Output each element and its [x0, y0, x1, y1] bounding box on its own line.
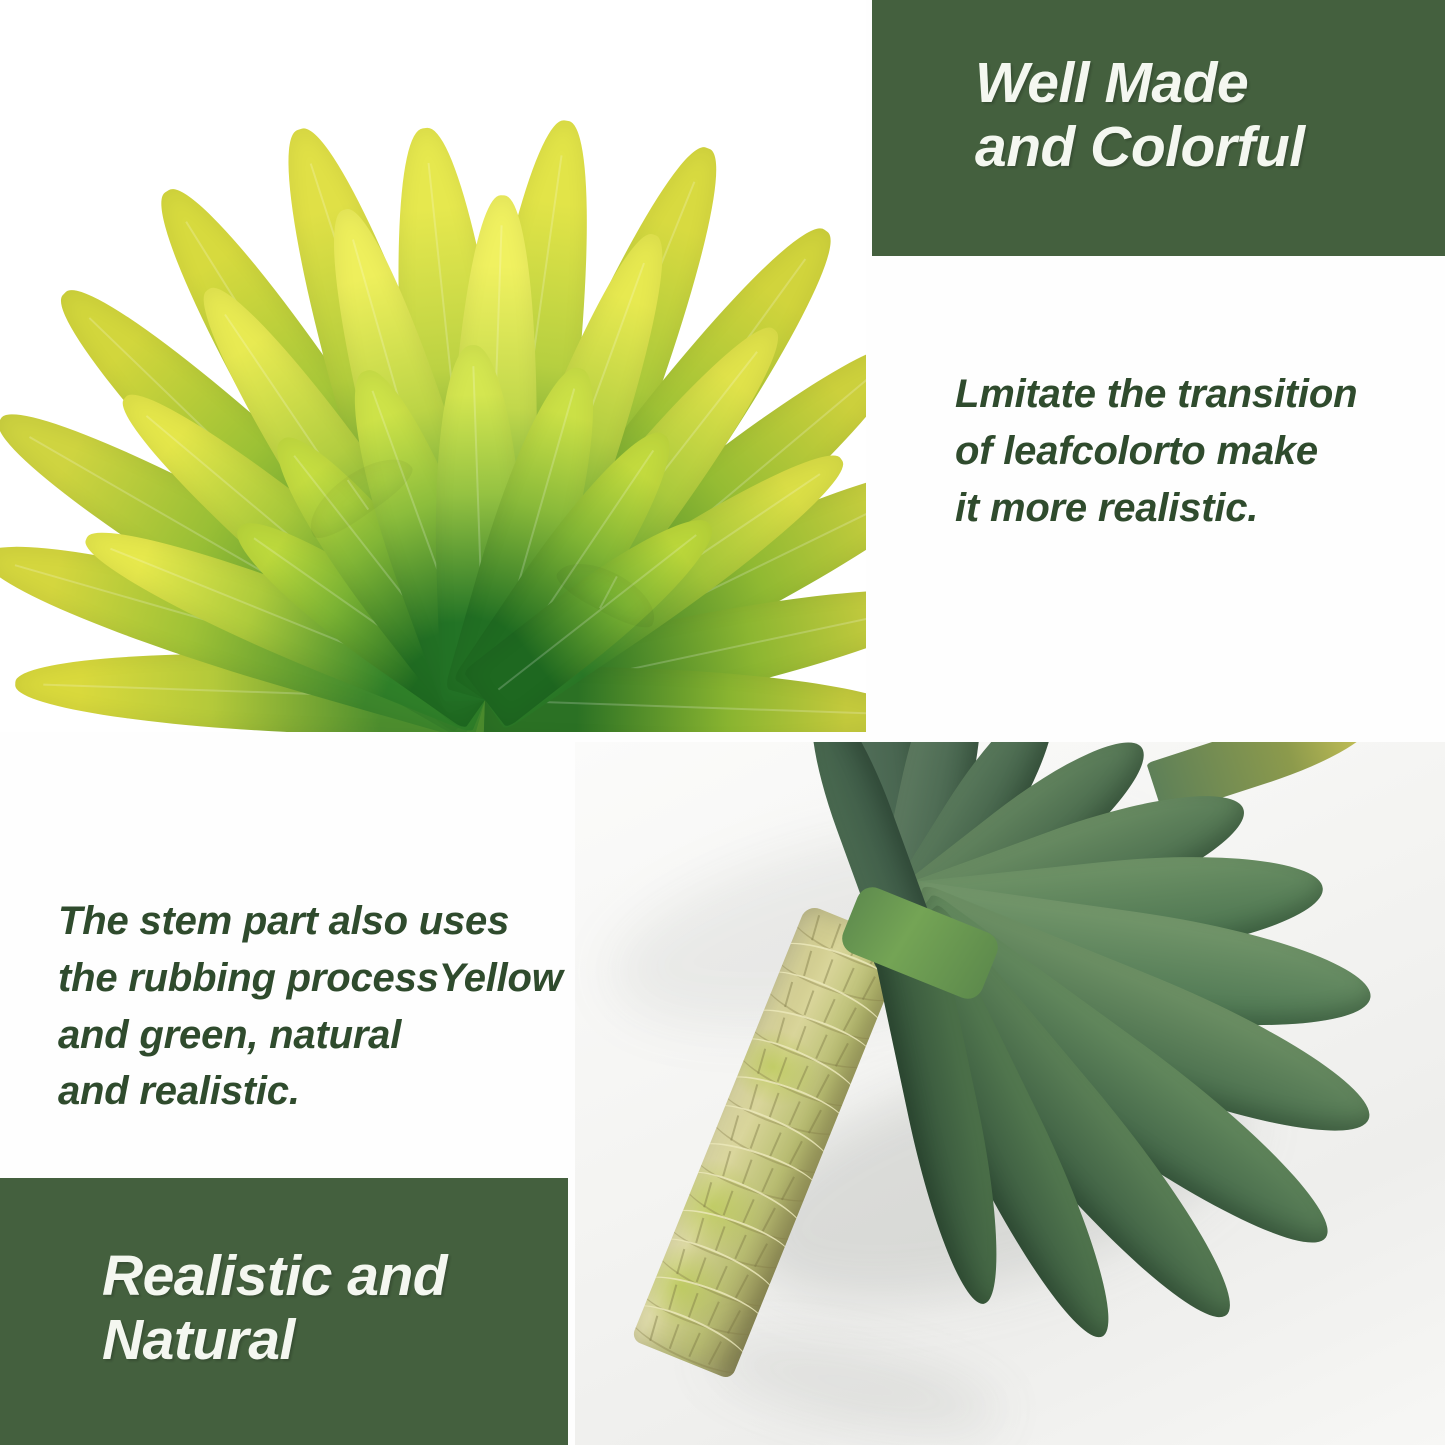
panel-well-made-and-colorful: Well Made and Colorful [872, 0, 1445, 256]
infographic-page: Well Made and Colorful Lmitate the trans… [0, 0, 1445, 1445]
headline-well-made-and-colorful: Well Made and Colorful [975, 52, 1305, 180]
photo-agave-stem-detail [575, 742, 1445, 1445]
panel-realistic-and-natural: Realistic and Natural [0, 1178, 568, 1445]
photo-agave-top-view [0, 0, 866, 732]
caption-stem-rubbing-process: The stem part also uses the rubbing proc… [58, 893, 578, 1120]
caption-imitate-transition: Lmitate the transition of leafcolorto ma… [955, 366, 1405, 536]
stem-tip-shadow [701, 1320, 1009, 1445]
headline-realistic-and-natural: Realistic and Natural [102, 1245, 447, 1373]
